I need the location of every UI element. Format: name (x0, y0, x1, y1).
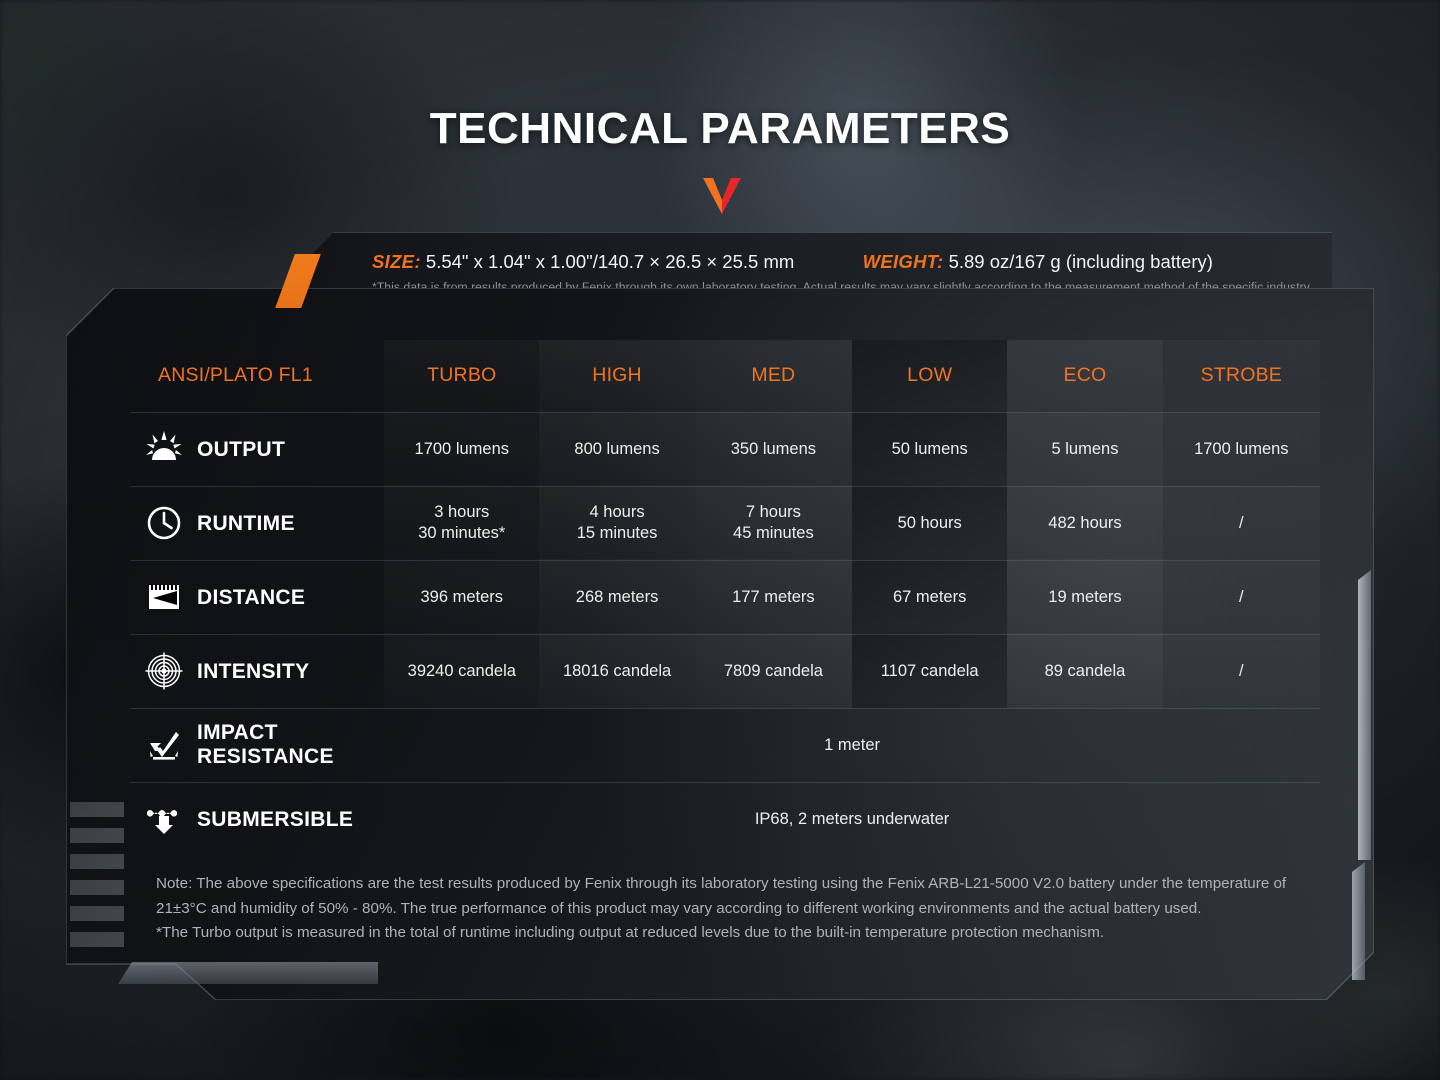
cell-output-low: 50 lumens (852, 412, 1007, 486)
cell-intensity-high: 18016 candela (539, 634, 694, 708)
row-label-distance: DISTANCE (130, 560, 384, 634)
cell-runtime-low: 50 hours (852, 486, 1007, 560)
row-label-text: INTENSITY (197, 661, 309, 682)
cell-intensity-eco: 89 candela (1007, 634, 1162, 708)
row-label-intensity: INTENSITY (130, 634, 384, 708)
table-body: OUTPUT 1700 lumens 800 lumens 350 lumens… (130, 412, 1320, 856)
target-icon (144, 651, 184, 691)
cell-output-turbo: 1700 lumens (384, 412, 539, 486)
cell-runtime-high: 4 hours15 minutes (539, 486, 694, 560)
row-label-text: OUTPUT (197, 439, 285, 460)
cell-output-med: 350 lumens (695, 412, 852, 486)
cell-distance-high: 268 meters (539, 560, 694, 634)
table-row: SUBMERSIBLE IP68, 2 meters underwater (130, 782, 1320, 856)
table-row: IMPACTRESISTANCE 1 meter (130, 708, 1320, 782)
table-row: INTENSITY 39240 candela 18016 candela 78… (130, 634, 1320, 708)
header-low: LOW (852, 340, 1007, 412)
cell-distance-med: 177 meters (695, 560, 852, 634)
footer-note-main: Note: The above specifications are the t… (156, 872, 1322, 921)
table-row: RUNTIME 3 hours30 minutes* 4 hours15 min… (130, 486, 1320, 560)
row-label-text: SUBMERSIBLE (197, 809, 353, 830)
footer-notes: Note: The above specifications are the t… (156, 872, 1322, 946)
cell-runtime-turbo: 3 hours30 minutes* (384, 486, 539, 560)
weight-value: 5.89 oz/167 g (including battery) (949, 251, 1213, 272)
size-value: 5.54" x 1.04" x 1.00"/140.7 × 26.5 × 25.… (426, 251, 794, 272)
cell-distance-strobe: / (1163, 560, 1320, 634)
cell-distance-eco: 19 meters (1007, 560, 1162, 634)
size-label: SIZE: (372, 251, 421, 272)
cell-runtime-strobe: / (1163, 486, 1320, 560)
header-eco: ECO (1007, 340, 1162, 412)
table-row: OUTPUT 1700 lumens 800 lumens 350 lumens… (130, 412, 1320, 486)
header-ansi: ANSI/PLATO FL1 (130, 340, 384, 412)
header-med: MED (695, 340, 852, 412)
cell-intensity-turbo: 39240 candela (384, 634, 539, 708)
cell-runtime-med: 7 hours45 minutes (695, 486, 852, 560)
cell-runtime-eco: 482 hours (1007, 486, 1162, 560)
table-head: ANSI/PLATO FL1 TURBO HIGH MED LOW ECO ST… (130, 340, 1320, 412)
cell-submersible-value: IP68, 2 meters underwater (384, 782, 1320, 856)
spec-summary-line: SIZE: 5.54" x 1.04" x 1.00"/140.7 × 26.5… (372, 251, 1332, 273)
header-high: HIGH (539, 340, 694, 412)
row-label-text: IMPACTRESISTANCE (197, 721, 334, 769)
cell-intensity-med: 7809 candela (695, 634, 852, 708)
page-title: TECHNICAL PARAMETERS (0, 104, 1440, 154)
cell-distance-low: 67 meters (852, 560, 1007, 634)
header-strobe: STROBE (1163, 340, 1320, 412)
cell-output-strobe: 1700 lumens (1163, 412, 1320, 486)
cell-intensity-strobe: / (1163, 634, 1320, 708)
water-drop-icon (144, 799, 184, 839)
row-label-submersible: SUBMERSIBLE (130, 782, 384, 856)
clock-icon (144, 503, 184, 543)
cell-output-eco: 5 lumens (1007, 412, 1162, 486)
header-turbo: TURBO (384, 340, 539, 412)
cell-intensity-low: 1107 candela (852, 634, 1007, 708)
row-label-text: RUNTIME (197, 513, 295, 534)
ruler-beam-icon (144, 577, 184, 617)
row-label-text: DISTANCE (197, 587, 305, 608)
sunburst-icon (144, 429, 184, 469)
weight-label: WEIGHT: (863, 251, 944, 272)
table-row: DISTANCE 396 meters 268 meters 177 meter… (130, 560, 1320, 634)
cell-output-high: 800 lumens (539, 412, 694, 486)
cell-impact-resistance-value: 1 meter (384, 708, 1320, 782)
row-label-runtime: RUNTIME (130, 486, 384, 560)
chevron-down-icon (703, 178, 741, 214)
footer-note-turbo: *The Turbo output is measured in the tot… (156, 921, 1322, 946)
row-label-impact-resistance: IMPACTRESISTANCE (130, 708, 384, 782)
specs-table: ANSI/PLATO FL1 TURBO HIGH MED LOW ECO ST… (130, 340, 1320, 856)
cell-distance-turbo: 396 meters (384, 560, 539, 634)
impact-arrow-icon (144, 725, 184, 765)
row-label-output: OUTPUT (130, 412, 384, 486)
table-header-row: ANSI/PLATO FL1 TURBO HIGH MED LOW ECO ST… (130, 340, 1320, 412)
